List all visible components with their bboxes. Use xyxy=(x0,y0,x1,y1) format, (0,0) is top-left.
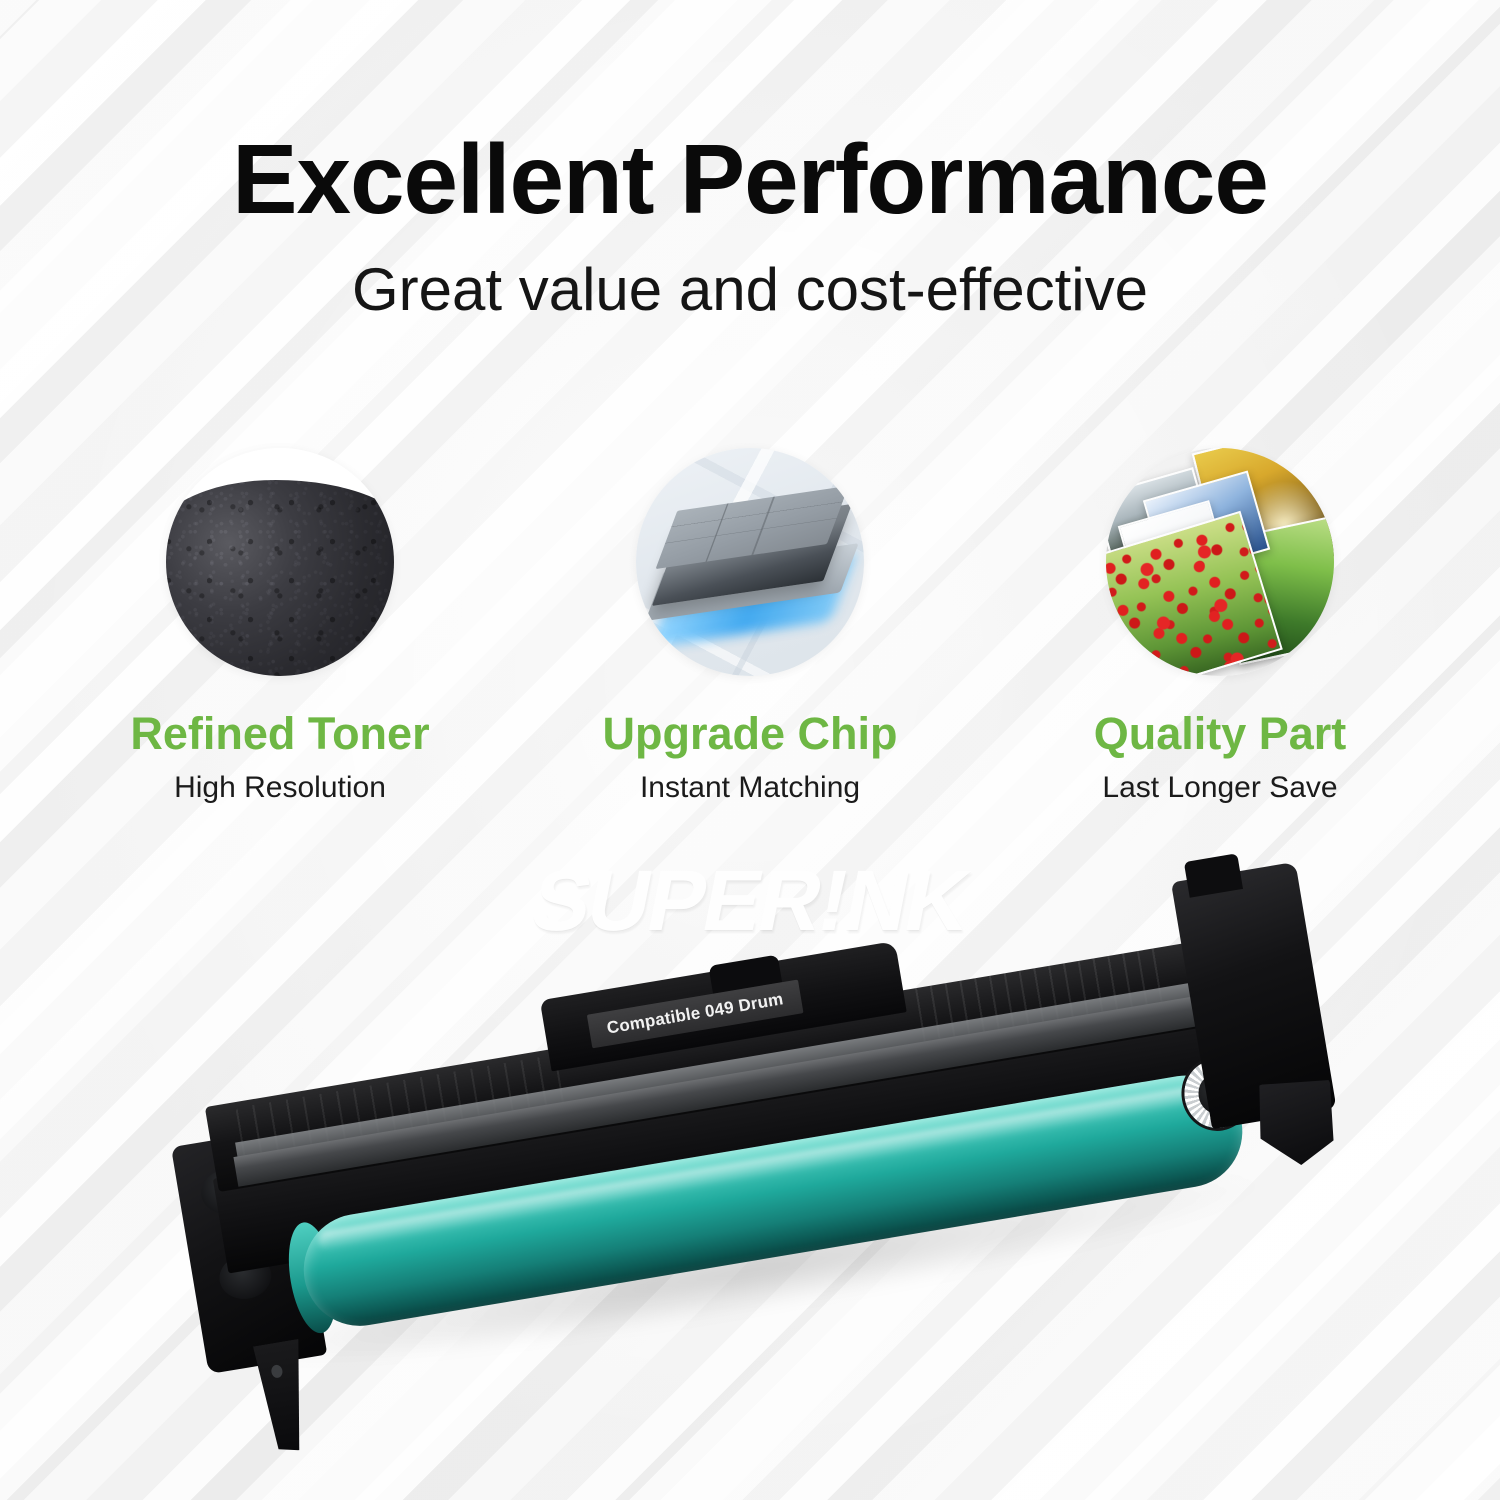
feature-row: Refined Toner High Resolution Upgrade Ch… xyxy=(0,448,1500,805)
page-title: Excellent Performance xyxy=(0,128,1500,231)
drum-right-cap-lug xyxy=(1252,1073,1343,1171)
toner-powder-photo xyxy=(166,448,394,676)
printed-photos-collage xyxy=(1106,448,1334,676)
feature-item-quality-part: Quality Part Last Longer Save xyxy=(1070,448,1370,805)
feature-title: Quality Part xyxy=(1094,710,1347,757)
feature-title: Refined Toner xyxy=(130,710,429,757)
feature-item-refined-toner: Refined Toner High Resolution xyxy=(130,448,430,805)
drum-unit-photo: Compatible 049 Drum xyxy=(182,930,1342,1400)
product-feature-banner: Excellent Performance Great value and co… xyxy=(0,0,1500,1500)
feature-subtitle: Last Longer Save xyxy=(1102,771,1337,805)
feature-item-upgrade-chip: Upgrade Chip Instant Matching xyxy=(600,448,900,805)
header-block: Excellent Performance Great value and co… xyxy=(0,128,1500,323)
upgrade-chip-photo xyxy=(636,448,864,676)
toner-grain-texture xyxy=(166,448,394,676)
feature-subtitle: Instant Matching xyxy=(640,771,860,805)
feature-subtitle: High Resolution xyxy=(174,771,386,805)
feature-title: Upgrade Chip xyxy=(602,710,897,757)
page-subtitle: Great value and cost-effective xyxy=(0,257,1500,323)
